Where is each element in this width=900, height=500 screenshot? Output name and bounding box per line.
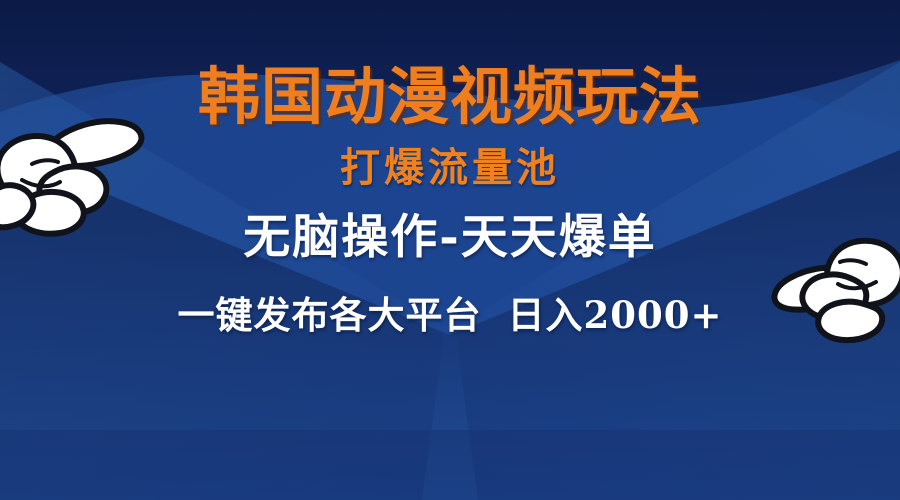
pointing-hand-right-icon	[0, 88, 152, 240]
promo-poster: 韩国动漫视频玩法 打爆流量池 无脑操作-天天爆单 一键发布各大平台日入2000+	[0, 0, 900, 500]
pointing-hand-left-icon	[758, 212, 900, 348]
